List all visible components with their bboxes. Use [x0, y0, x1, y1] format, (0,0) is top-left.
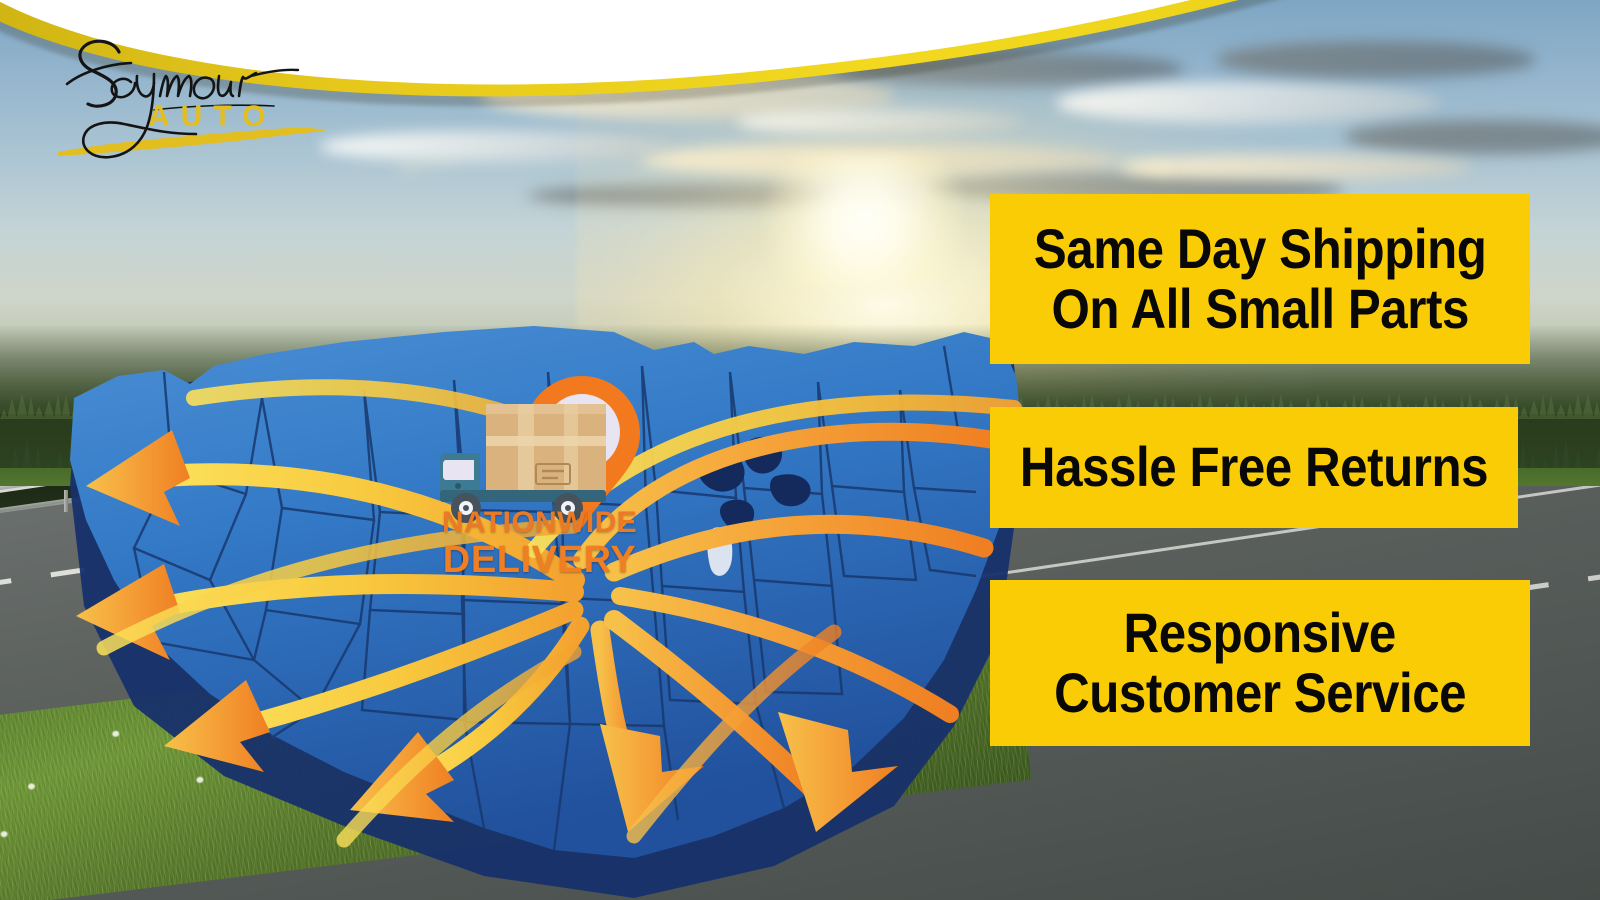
delivery-heading-line-2: DELIVERY [432, 541, 647, 579]
nationwide-delivery-text: NATIONWIDE DELIVERY [432, 508, 647, 579]
cargo-box-icon [486, 404, 606, 496]
feature-box-responsive-customer-service[interactable]: Responsive Customer Service [990, 580, 1530, 746]
feature-line: On All Small Parts [1051, 279, 1468, 339]
feature-line: Hassle Free Returns [1020, 437, 1488, 497]
logo[interactable]: AUTO [36, 24, 336, 164]
promotional-banner: AUTO [0, 0, 1600, 900]
feature-box-hassle-free-returns[interactable]: Hassle Free Returns [990, 407, 1518, 528]
nationwide-delivery-badge: NATIONWIDE DELIVERY [432, 368, 662, 583]
feature-line: Same Day Shipping [1034, 219, 1487, 279]
delivery-heading-line-1: NATIONWIDE [432, 508, 647, 538]
feature-line: Customer Service [1054, 663, 1466, 723]
feature-box-same-day-shipping[interactable]: Same Day Shipping On All Small Parts [990, 194, 1530, 364]
feature-line: Responsive [1124, 603, 1396, 663]
logo-subtitle: AUTO [148, 100, 276, 133]
